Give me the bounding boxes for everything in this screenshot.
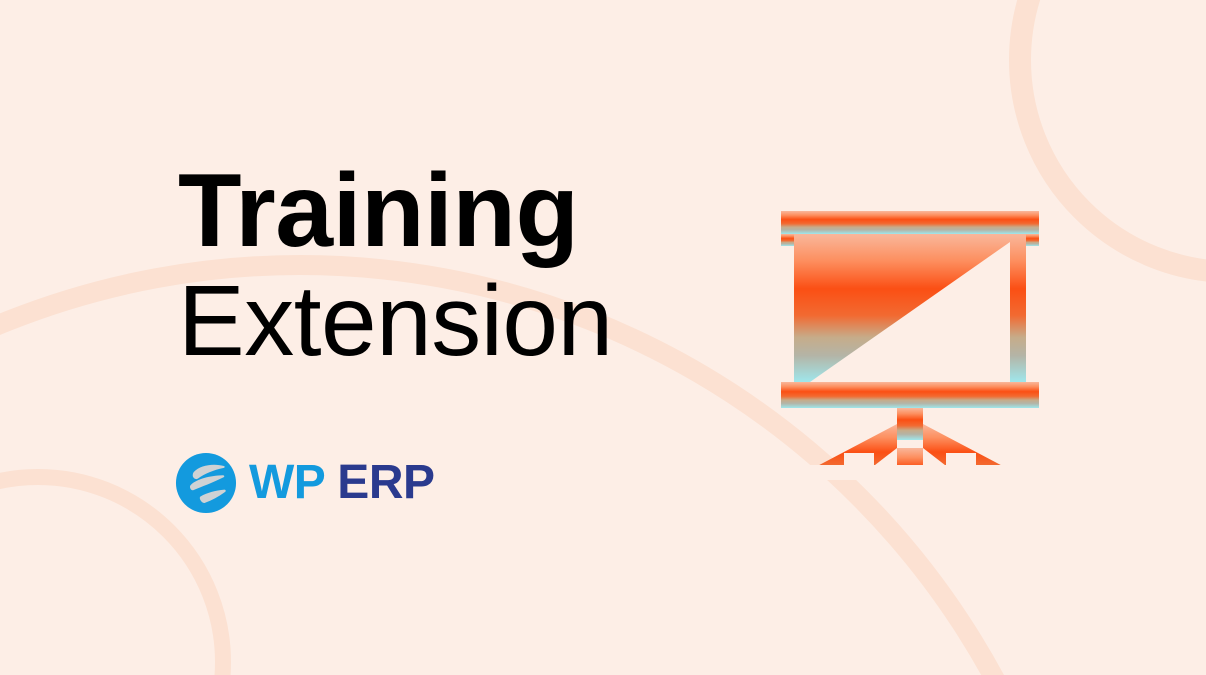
board-bottom-rail	[781, 382, 1039, 408]
logo-word-wp: WP	[249, 456, 324, 509]
board-right-post-cap	[1026, 234, 1039, 246]
board-right-post	[1010, 234, 1026, 382]
board-left-post	[794, 234, 810, 382]
board-top-rail	[781, 211, 1039, 234]
page-title-line-2: Extension	[178, 264, 798, 378]
tripod-centre-post	[897, 408, 923, 440]
wp-erp-globe-icon	[175, 452, 237, 514]
logo-word-separator	[324, 456, 337, 509]
training-extension-banner: Training Extension WP ERP	[0, 0, 1206, 675]
presentation-board-illustration	[770, 200, 1050, 480]
tripod-left-foot-notch	[844, 453, 874, 467]
board-left-post-cap	[781, 234, 794, 246]
presentation-board-icon	[770, 200, 1050, 480]
page-title-line-1: Training	[178, 152, 798, 270]
page-title: Training Extension	[178, 152, 798, 378]
tripod-foot-mask	[770, 465, 1050, 480]
wp-erp-logo[interactable]: WP ERP	[175, 452, 435, 514]
tripod-right-foot-notch	[946, 453, 976, 467]
wp-erp-wordmark: WP ERP	[249, 459, 435, 507]
logo-word-erp: ERP	[337, 456, 434, 509]
